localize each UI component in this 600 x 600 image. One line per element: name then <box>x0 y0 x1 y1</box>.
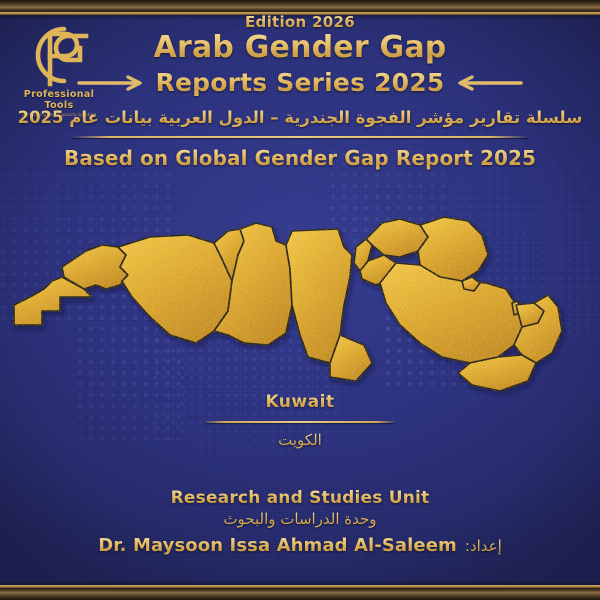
country-name-en: Kuwait <box>0 392 600 412</box>
research-unit-ar: وحدة الدراسات والبحوث <box>0 510 600 528</box>
divider-under-country <box>205 421 395 423</box>
arab-world-map <box>0 185 600 405</box>
research-unit-en: Research and Studies Unit <box>0 488 600 508</box>
author-row: إعداد: Dr. Maysoon Issa Ahmad Al-Saleem <box>0 535 600 556</box>
arrow-left-icon <box>454 75 524 91</box>
based-on-label: Based on Global Gender Gap Report 2025 <box>0 146 600 170</box>
subtitle-arabic: سلسلة تقارير مؤشر الفجوة الجندرية – الدو… <box>0 108 600 127</box>
series-title-row: Reports Series 2025 <box>0 68 600 97</box>
country-name-ar: الكويت <box>0 431 600 449</box>
author-label-ar: إعداد: <box>465 537 502 555</box>
arrow-right-icon <box>76 75 146 91</box>
series-title: Reports Series 2025 <box>156 68 445 97</box>
author-name: Dr. Maysoon Issa Ahmad Al-Saleem <box>98 535 457 556</box>
edition-label: Edition 2026 <box>0 13 600 31</box>
poster-canvas: Professional Tools for training and capa… <box>0 0 600 600</box>
divider-under-subtitle <box>72 136 528 138</box>
frame-top-band <box>0 0 600 12</box>
page-title: Arab Gender Gap <box>0 30 600 65</box>
frame-bottom-band <box>0 588 600 600</box>
